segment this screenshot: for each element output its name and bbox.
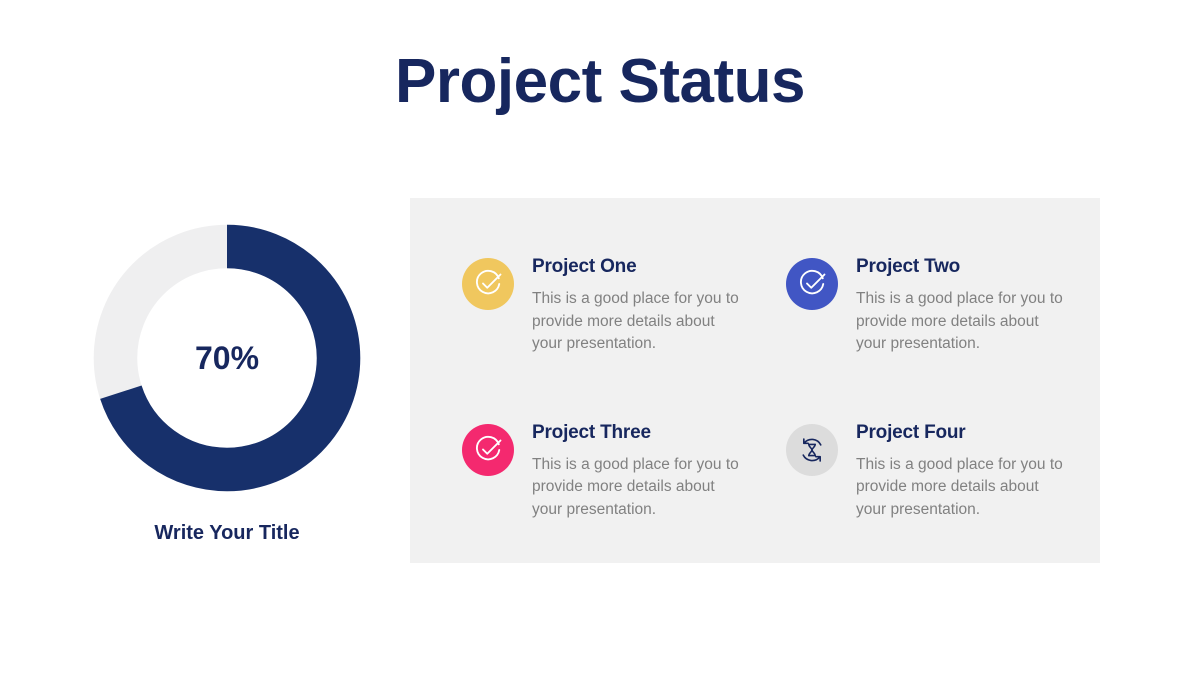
project-title: Project One xyxy=(532,255,742,279)
project-title: Project Four xyxy=(856,421,1066,445)
project-title: Project Three xyxy=(532,421,742,445)
check-circle-icon xyxy=(473,435,503,465)
donut-caption: Write Your Title xyxy=(77,522,377,545)
donut-chart: 70% xyxy=(91,222,363,494)
project-item-four[interactable]: Project Four This is a good place for yo… xyxy=(786,420,1100,564)
project-description: This is a good place for you to provide … xyxy=(856,454,1066,522)
project-icon-badge xyxy=(786,258,838,310)
project-description: This is a good place for you to provide … xyxy=(856,288,1066,356)
project-item-three[interactable]: Project Three This is a good place for y… xyxy=(462,420,776,564)
project-icon-badge xyxy=(462,258,514,310)
project-item-two[interactable]: Project Two This is a good place for you… xyxy=(786,254,1100,398)
project-icon-badge xyxy=(786,424,838,476)
project-icon-badge xyxy=(462,424,514,476)
project-text-block: Project Three This is a good place for y… xyxy=(532,420,742,522)
project-text-block: Project Two This is a good place for you… xyxy=(856,254,1066,356)
project-description: This is a good place for you to provide … xyxy=(532,454,742,522)
project-text-block: Project Four This is a good place for yo… xyxy=(856,420,1066,522)
donut-chart-block: 70% Write Your Title xyxy=(77,222,377,562)
check-circle-icon xyxy=(797,269,827,299)
project-description: This is a good place for you to provide … xyxy=(532,288,742,356)
donut-percentage-label: 70% xyxy=(91,222,363,494)
project-title: Project Two xyxy=(856,255,1066,279)
project-text-block: Project One This is a good place for you… xyxy=(532,254,742,356)
items-grid: Project One This is a good place for you… xyxy=(410,198,1100,563)
slide-root: Project Status 70% Write Your Title xyxy=(0,0,1200,675)
page-title: Project Status xyxy=(0,44,1200,120)
check-circle-icon xyxy=(473,269,503,299)
hourglass-refresh-icon xyxy=(798,436,826,464)
project-item-one[interactable]: Project One This is a good place for you… xyxy=(462,254,776,398)
